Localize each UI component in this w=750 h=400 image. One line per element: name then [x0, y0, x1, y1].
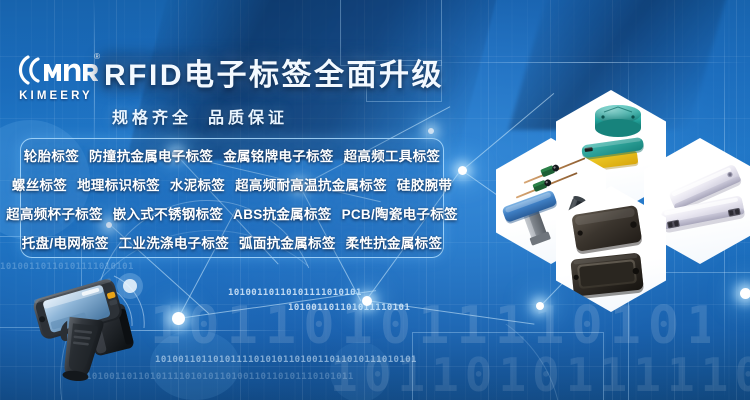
product-list-row: 托盘/电网标签 工业洗涤电子标签 弧面抗金属标签 柔性抗金属标签 [27, 227, 437, 256]
product-tag[interactable]: 螺丝标签 [7, 174, 72, 194]
network-node [458, 166, 467, 175]
product-tag[interactable]: 嵌入式不锈钢标签 [108, 203, 228, 223]
subtitle-right: 品质保证 [208, 104, 288, 128]
product-tag[interactable]: ABS抗金属标签 [228, 203, 336, 223]
product-tag[interactable]: 硅胶腕带 [392, 174, 457, 194]
network-node [740, 288, 750, 299]
brand-logo: ® KIMEERY [14, 52, 98, 108]
product-tag[interactable]: 柔性抗金属标签 [341, 232, 448, 252]
product-list-panel: 轮胎标签 防撞抗金属电子标签 金属铭牌电子标签 超高频工具标签 螺丝标签 地理标… [20, 138, 444, 258]
product-tag[interactable]: 超高频杯子标签 [1, 203, 108, 223]
page-subtitle: 规格齐全 品质保证 [112, 104, 288, 128]
kmr-logo-icon [14, 52, 98, 88]
product-tag[interactable]: 防撞抗金属电子标签 [84, 145, 218, 165]
product-tag[interactable]: 轮胎标签 [19, 145, 84, 165]
handheld-rfid-reader[interactable] [26, 268, 154, 390]
page-title: RFID电子标签全面升级 [104, 52, 444, 92]
rfid-promo-banner: 10110101111010101 1011010111110101 10100… [0, 0, 750, 400]
product-list-row: 轮胎标签 防撞抗金属电子标签 金属铭牌电子标签 超高频工具标签 [27, 140, 437, 169]
product-tag[interactable]: 工业洗涤电子标签 [114, 232, 234, 252]
product-list-row: 超高频杯子标签 嵌入式不锈钢标签 ABS抗金属标签 PCB/陶瓷电子标签 [27, 198, 437, 227]
handheld-rfid-reader-image [26, 268, 154, 390]
logo-wordmark: KIMEERY [14, 90, 98, 102]
product-tag[interactable]: 地理标识标签 [72, 174, 165, 194]
product-tag[interactable]: 托盘/电网标签 [17, 232, 114, 252]
background-hline-1 [420, 62, 750, 63]
product-tag[interactable]: PCB/陶瓷电子标签 [337, 203, 463, 223]
subtitle-left: 规格齐全 [112, 104, 192, 128]
product-tag[interactable]: 弧面抗金属标签 [234, 232, 341, 252]
product-tag[interactable]: 超高频耐高温抗金属标签 [230, 174, 392, 194]
product-tag[interactable]: 超高频工具标签 [339, 145, 446, 165]
product-list-row: 螺丝标签 地理标识标签 水泥标签 超高频耐高温抗金属标签 硅胶腕带 [27, 169, 437, 198]
product-tag[interactable]: 金属铭牌电子标签 [218, 145, 338, 165]
network-node [362, 296, 372, 306]
network-node [536, 302, 544, 310]
network-node [172, 312, 185, 325]
network-node [428, 128, 434, 134]
logo-mark-kmr: ® [14, 52, 98, 88]
product-tag[interactable]: 水泥标签 [165, 174, 230, 194]
